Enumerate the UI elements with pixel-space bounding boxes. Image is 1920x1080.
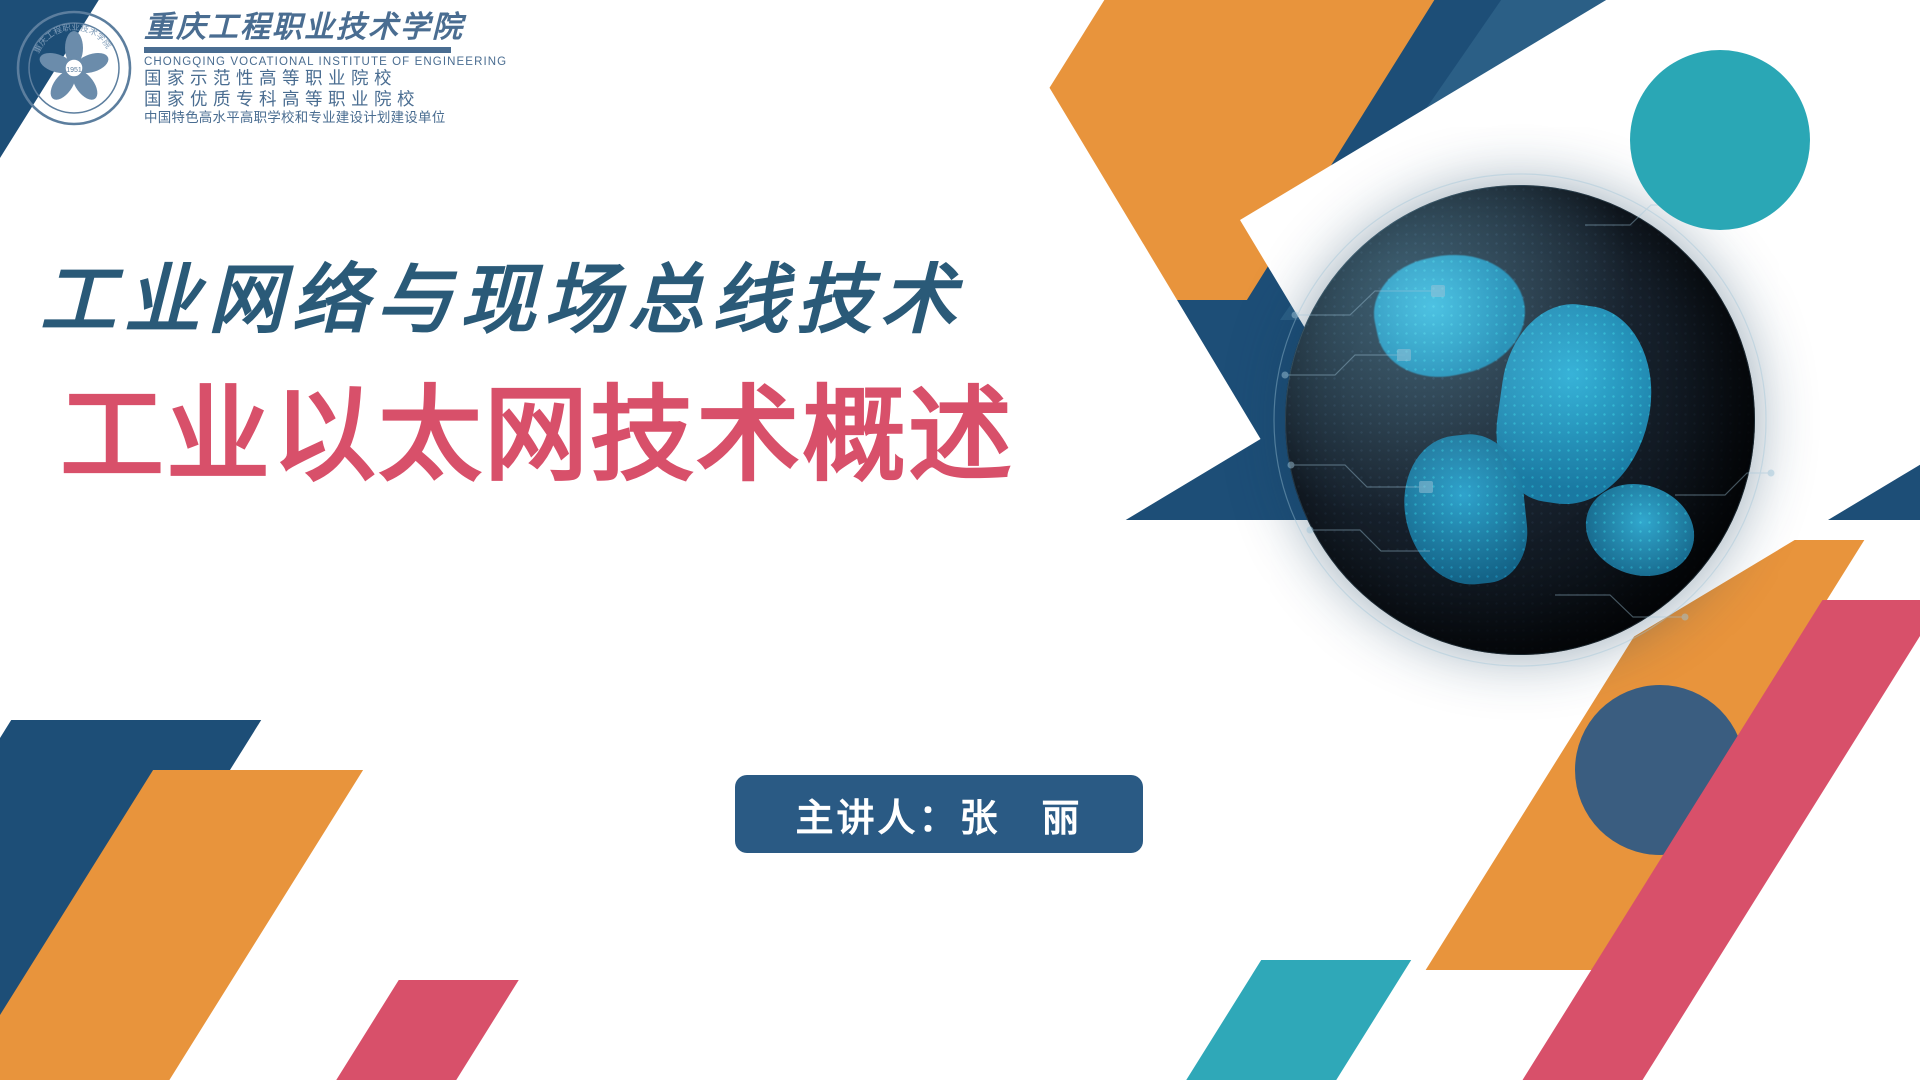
circuit-lines-decoration: [1255, 165, 1775, 685]
white-sweep-bottom-left: [0, 0, 1261, 1080]
globe-network-icon: [1255, 165, 1775, 685]
seal-year: 1951: [66, 67, 82, 74]
orange-band-bottom-left: [0, 770, 363, 1080]
university-seal-icon: 1951 重庆工程职业技术学院: [14, 8, 134, 128]
course-title: 工业网络与现场总线技术: [40, 238, 1040, 348]
topic-title: 工业以太网技术概述: [60, 350, 1120, 501]
crimson-band-bottom-left: [261, 980, 518, 1080]
navy-circle-decoration: [1575, 685, 1745, 855]
university-logo: 1951 重庆工程职业技术学院 重庆工程职业技术学院 CHONGQING VOC…: [14, 8, 444, 148]
university-honor-line-2: 国家优质专科高等职业院校: [144, 89, 507, 110]
university-name-cn: 重庆工程职业技术学院: [144, 12, 507, 44]
presenter-badge: 主讲人：张 丽: [735, 775, 1143, 853]
logo-divider: [144, 47, 451, 50]
presentation-slide: 1951 重庆工程职业技术学院 重庆工程职业技术学院 CHONGQING VOC…: [0, 0, 1920, 1080]
university-honor-line-3: 中国特色高水平高职学校和专业建设计划建设单位: [144, 110, 507, 127]
navy-band-bottom-left: [0, 720, 261, 1080]
university-honor-line-1: 国家示范性高等职业院校: [144, 68, 507, 89]
university-name-en: CHONGQING VOCATIONAL INSTITUTE OF ENGINE…: [144, 56, 507, 68]
teal-band-bottom: [1099, 960, 1411, 1080]
